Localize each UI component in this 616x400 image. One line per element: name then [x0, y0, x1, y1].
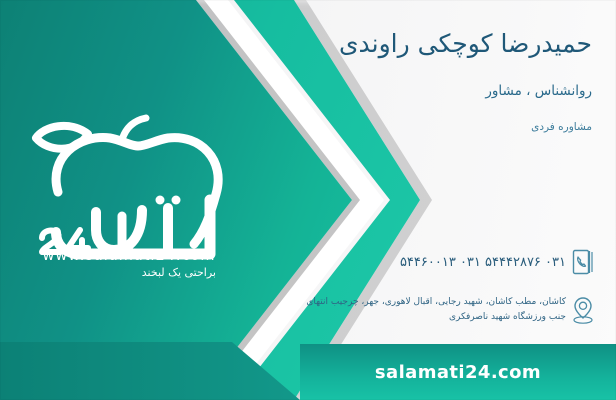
phone-numbers: ۰۳۱ ۵۴۴۴۲۸۷۶ ۰۳۱ ۵۴۴۶۰۰۱۳ [250, 255, 566, 270]
footer-bar[interactable]: salamati24.com [300, 344, 616, 400]
map-pin-icon [566, 291, 600, 329]
business-card: براحتی یک لبخند www.salamati24.com حمیدر… [0, 0, 616, 400]
logo-tagline: براحتی یک لبخند [142, 266, 216, 279]
contact-block: ۰۳۱ ۵۴۴۴۲۸۷۶ ۰۳۱ ۵۴۴۶۰۰۱۳ کاشان، مطب کاش… [250, 243, 600, 339]
address-line-2: جنب ورزشگاه شهید ناصرفکری [254, 310, 566, 325]
footer-website: salamati24.com [375, 362, 541, 383]
logo-website-url: www.salamati24.com [24, 248, 234, 264]
card-details: حمیدرضا کوچکی راوندی روانشناس ، مشاور مش… [262, 28, 592, 133]
phone-row[interactable]: ۰۳۱ ۵۴۴۴۲۸۷۶ ۰۳۱ ۵۴۴۶۰۰۱۳ [250, 243, 600, 281]
person-role: روانشناس ، مشاور [262, 83, 592, 99]
address-row[interactable]: کاشان، مطب کاشان، شهید رجایی، اقبال لاهو… [250, 291, 600, 329]
address-text: کاشان، مطب کاشان، شهید رجایی، اقبال لاهو… [250, 295, 566, 326]
address-line-1: کاشان، مطب کاشان، شهید رجایی، اقبال لاهو… [254, 295, 566, 310]
person-name: حمیدرضا کوچکی راوندی [262, 28, 592, 61]
person-service: مشاوره فردی [262, 121, 592, 133]
phone-book-icon [566, 243, 600, 281]
